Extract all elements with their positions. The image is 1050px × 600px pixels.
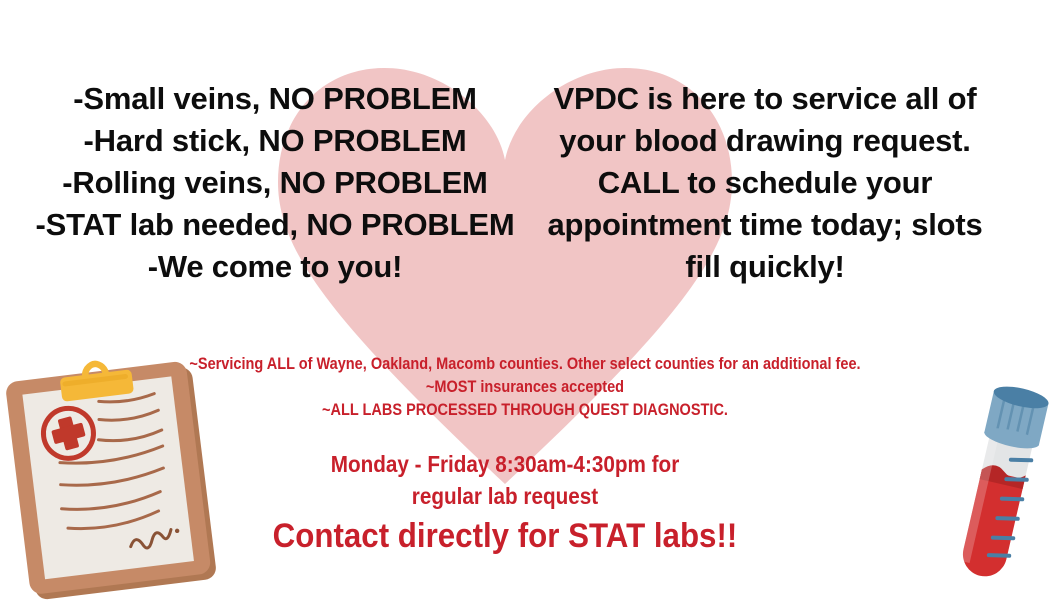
flyer-canvas: -Small veins, NO PROBLEM -Hard stick, NO…	[0, 0, 1050, 600]
clipboard-icon	[0, 352, 230, 600]
benefits-column: -Small veins, NO PROBLEM -Hard stick, NO…	[35, 78, 515, 288]
service-message-column: VPDC is here to service all of your bloo…	[530, 78, 1000, 288]
stat-labs-call-to-action: Contact directly for STAT labs!!	[201, 515, 808, 557]
business-hours: Monday - Friday 8:30am-4:30pm for regula…	[208, 448, 802, 512]
blood-test-tube-icon	[948, 378, 1050, 600]
